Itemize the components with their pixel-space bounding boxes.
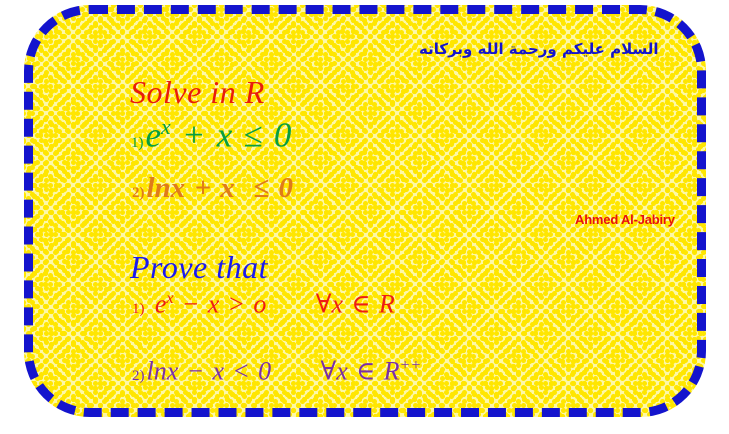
equation-prove-2-base: lnx — [147, 357, 179, 386]
equation-solve-1-exponent: x — [161, 115, 171, 139]
equation-solve-1-base: e — [146, 116, 162, 155]
equation-solve-1-variable: x — [217, 116, 233, 155]
equation-solve-1-number: 1) — [131, 135, 144, 151]
equation-solve-1-relation: ≤ — [243, 116, 262, 155]
equation-solve-2: 2)lnx+x≤0 — [132, 174, 293, 203]
equation-prove-2-operator: − — [187, 357, 205, 386]
equation-prove-1-exponent: x — [166, 290, 173, 307]
equation-solve-2-number: 2) — [132, 185, 145, 201]
author-signature: Ahmed Al-Jabiry — [575, 213, 675, 226]
equation-solve-2-rhs: 0 — [278, 172, 293, 204]
equation-solve-2-variable: x — [220, 172, 235, 204]
equation-prove-2-number: 2) — [132, 368, 145, 384]
equation-prove-2-membership-icon: ∈ — [356, 357, 375, 386]
equation-solve-1-rhs: 0 — [274, 116, 292, 155]
equation-prove-1-base: e — [155, 290, 167, 319]
math-worksheet-panel: السلام عليكم ورحمة الله وبركاته Solve in… — [24, 5, 706, 417]
equation-prove-1-quantifier: ∀x — [316, 290, 343, 319]
equation-solve-1: 1)ex+x≤0 — [131, 117, 291, 153]
equation-prove-2-variable: x — [212, 357, 224, 386]
equation-prove-2-rhs: 0 — [258, 357, 271, 386]
equation-prove-1-number: 1) — [132, 301, 145, 317]
panel-content-area: السلام عليكم ورحمة الله وبركاته Solve in… — [33, 14, 697, 408]
equation-prove-1-relation: > — [228, 290, 246, 319]
slide-canvas: السلام عليكم ورحمة الله وبركاته Solve in… — [0, 0, 729, 434]
heading-solve-in-r: Solve in R — [130, 76, 265, 108]
equation-prove-2-relation: < — [232, 357, 250, 386]
heading-prove-that: Prove that — [130, 251, 268, 283]
equation-prove-1-rhs: o — [253, 290, 266, 319]
equation-solve-2-relation: ≤ — [253, 172, 269, 204]
equation-prove-1-operator: − — [182, 290, 200, 319]
equation-prove-1-membership-icon: ∈ — [351, 290, 370, 319]
equation-solve-1-operator: + — [182, 116, 206, 155]
equation-prove-1: 1)ex−x>o∀x∈R — [132, 291, 395, 318]
equation-prove-2: 2)lnx−x<0∀x∈R++ — [132, 358, 421, 385]
equation-solve-2-base: lnx — [147, 172, 186, 204]
equation-solve-2-operator: + — [194, 172, 211, 204]
equation-prove-1-domain-set: R — [379, 290, 395, 319]
arabic-greeting-text: السلام عليكم ورحمة الله وبركاته — [419, 42, 659, 57]
equation-prove-2-domain-set: R — [384, 357, 400, 386]
equation-prove-2-quantifier: ∀x — [321, 357, 348, 386]
equation-prove-1-variable: x — [208, 290, 220, 319]
equation-prove-2-domain-superscript: ++ — [400, 357, 422, 374]
